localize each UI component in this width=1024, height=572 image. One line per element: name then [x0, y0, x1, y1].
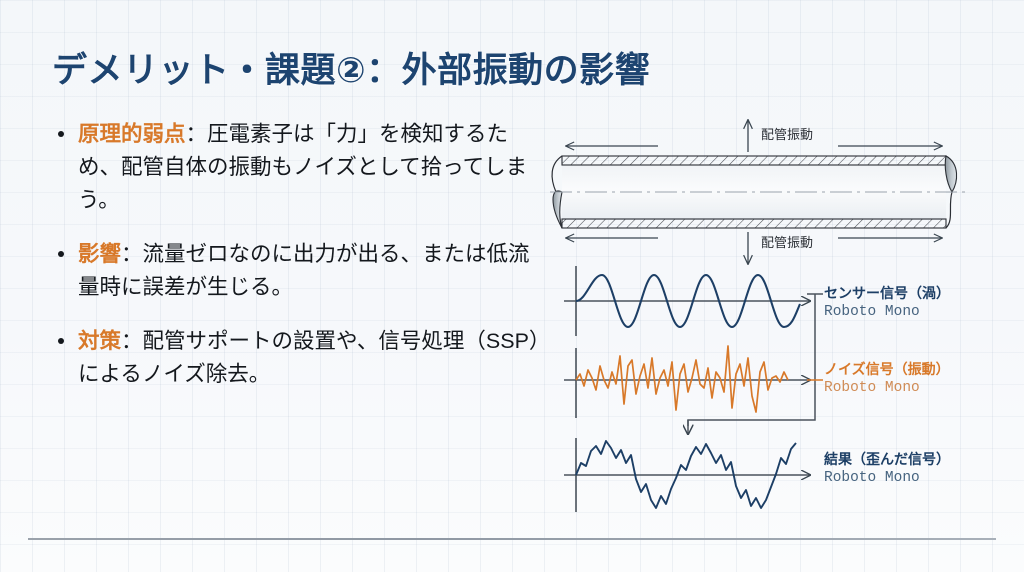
signal-combination-connector	[688, 294, 823, 434]
list-item: 影響：流量ゼロなのに出力が出る、または低流量時に誤差が生じる。	[52, 238, 542, 304]
pipe-upper-wall	[562, 156, 946, 165]
bullet-dot-icon	[58, 338, 64, 344]
pipe-illustration	[550, 156, 966, 228]
vibration-label-bottom: 配管振動	[761, 232, 813, 251]
noise-waveform	[576, 346, 788, 412]
legend-title: ノイズ信号（振動）	[824, 360, 950, 379]
legend-subtitle: Roboto Mono	[824, 303, 950, 322]
bullet-list: 原理的弱点：圧電素子は「力」を検知するため、配管自体の振動もノイズとして拾ってし…	[52, 118, 542, 412]
legend-title: 結果（歪んだ信号）	[824, 450, 950, 469]
bullet-keyword: 対策	[78, 329, 121, 353]
bullet-keyword: 原理的弱点	[78, 122, 186, 146]
legend-result-signal: 結果（歪んだ信号） Roboto Mono	[824, 450, 950, 488]
list-item: 対策：配管サポートの設置や、信号処理（SSP）によるノイズ除去。	[52, 325, 542, 391]
bullet-separator: ：	[121, 242, 143, 266]
legend-subtitle: Roboto Mono	[824, 379, 950, 398]
bullet-dot-icon	[58, 131, 64, 137]
bullet-separator: ：	[186, 122, 208, 146]
bullet-keyword: 影響	[78, 242, 121, 266]
legend-subtitle: Roboto Mono	[824, 469, 950, 488]
footer-divider	[28, 538, 996, 540]
slide-canvas: デメリット・課題②：外部振動の影響 原理的弱点：圧電素子は「力」を検知するため、…	[0, 0, 1024, 572]
page-title: デメリット・課題②：外部振動の影響	[52, 42, 650, 93]
legend-title: センサー信号（渦）	[824, 284, 950, 303]
bullet-separator: ：	[121, 329, 143, 353]
bullet-text: 配管サポートの設置や、信号処理（SSP）によるノイズ除去。	[78, 329, 540, 386]
bullet-dot-icon	[58, 251, 64, 257]
legend-sensor-signal: センサー信号（渦） Roboto Mono	[824, 284, 950, 322]
chart-sensor-signal	[564, 266, 810, 336]
pipe-lower-wall	[562, 219, 946, 228]
list-item: 原理的弱点：圧電素子は「力」を検知するため、配管自体の振動もノイズとして拾ってし…	[52, 118, 542, 217]
legend-noise-signal: ノイズ信号（振動） Roboto Mono	[824, 360, 950, 398]
chart-result-signal	[564, 438, 810, 512]
chart-noise-signal	[564, 346, 810, 418]
vibration-label-top: 配管振動	[761, 124, 813, 143]
bullet-text: 流量ゼロなのに出力が出る、または低流量時に誤差が生じる。	[78, 242, 530, 299]
